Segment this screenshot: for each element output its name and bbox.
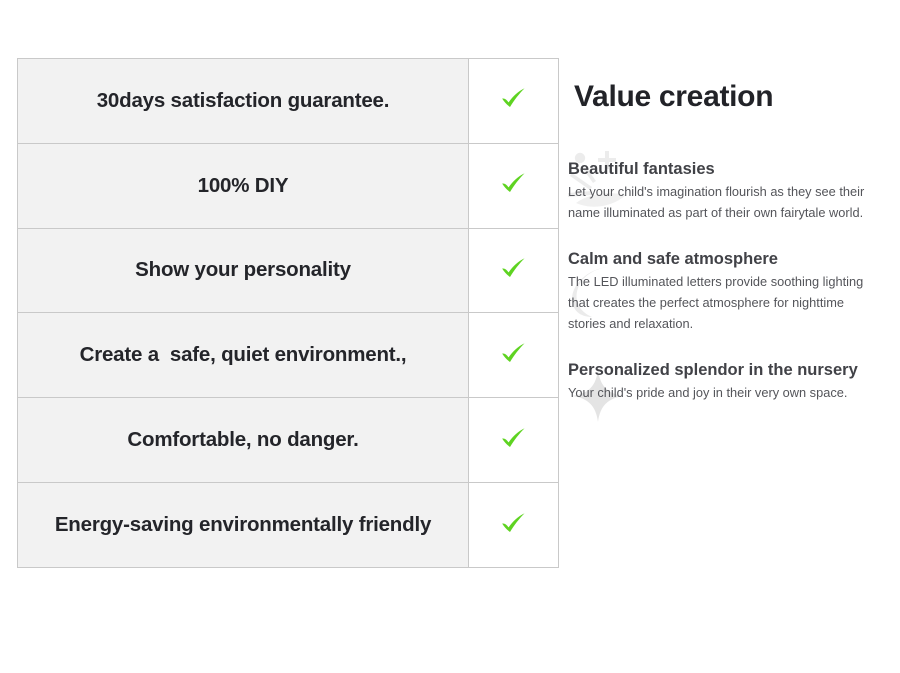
value-block-body: Let your child's imagination flourish as…: [568, 182, 884, 223]
check-icon: [499, 511, 529, 535]
feature-check-cell: [469, 483, 559, 568]
check-icon: [499, 426, 529, 450]
check-icon: [499, 256, 529, 280]
value-block-heading: Personalized splendor in the nursery: [568, 360, 900, 381]
feature-label-cell: Energy-saving environmentally friendly: [18, 483, 469, 568]
value-block-body: Your child's pride and joy in their very…: [568, 383, 884, 404]
feature-label-cell: Show your personality: [18, 228, 469, 313]
features-table-body: 30days satisfaction guarantee. 100% DIY: [18, 59, 559, 568]
feature-label-cell: 100% DIY: [18, 143, 469, 228]
feature-label-cell: Comfortable, no danger.: [18, 398, 469, 483]
value-block-calm-safe-atmosphere: Calm and safe atmosphere The LED illumin…: [568, 249, 900, 335]
table-row: Comfortable, no danger.: [18, 398, 559, 483]
table-row: Energy-saving environmentally friendly: [18, 483, 559, 568]
value-block-heading: Calm and safe atmosphere: [568, 249, 900, 270]
feature-label-cell: 30days satisfaction guarantee.: [18, 59, 469, 144]
value-block-body: The LED illuminated letters provide soot…: [568, 272, 884, 334]
check-icon: [499, 86, 529, 110]
features-table: 30days satisfaction guarantee. 100% DIY: [17, 58, 559, 568]
table-row: 30days satisfaction guarantee.: [18, 59, 559, 144]
table-row: 100% DIY: [18, 143, 559, 228]
page-title: Value creation: [574, 82, 773, 112]
check-icon: [499, 341, 529, 365]
value-creation-panel: Value creation Beautiful fantasies Let y…: [534, 58, 884, 458]
table-row: Show your personality: [18, 228, 559, 313]
table-row: Create a safe, quiet environment.,: [18, 313, 559, 398]
feature-label-cell: Create a safe, quiet environment.,: [18, 313, 469, 398]
value-block-heading: Beautiful fantasies: [568, 159, 900, 180]
value-block-beautiful-fantasies: Beautiful fantasies Let your child's ima…: [568, 159, 900, 224]
check-icon: [499, 171, 529, 195]
page-root: 30days satisfaction guarantee. 100% DIY: [0, 0, 900, 673]
value-block-personalized-splendor: Personalized splendor in the nursery You…: [568, 360, 900, 404]
